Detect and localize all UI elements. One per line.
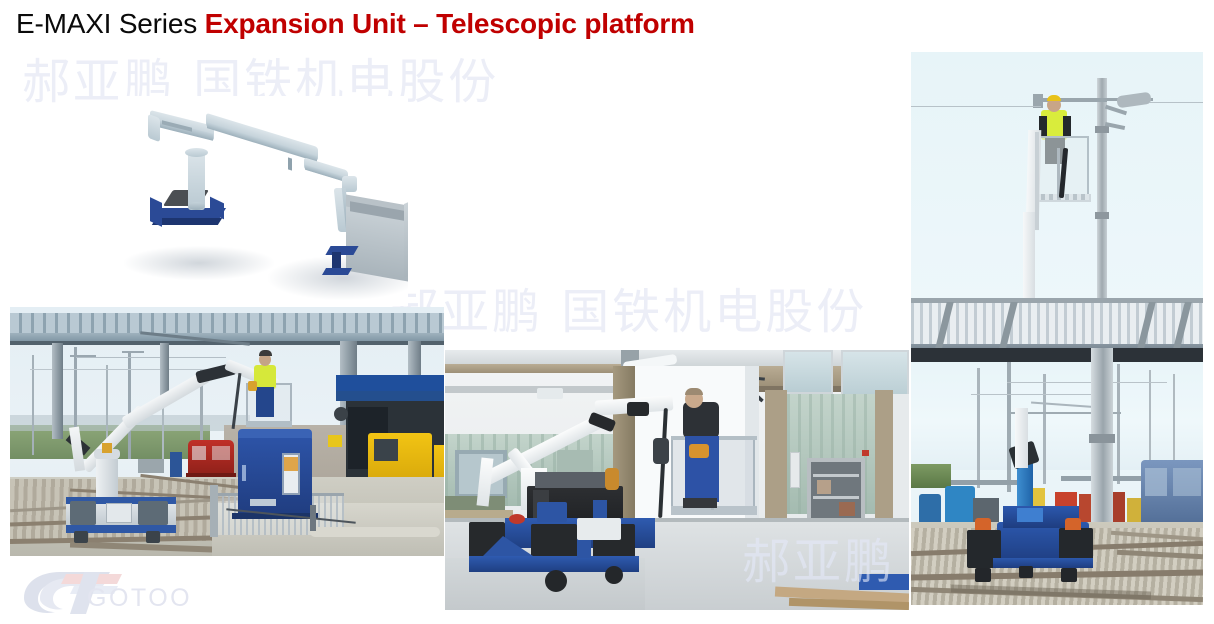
gotoo-logo-mark [14,568,210,620]
title-plain-text: E-MAXI Series [16,8,205,39]
cad-render-telescopic-platform [118,96,408,306]
page-title: E-MAXI Series Expansion Unit – Telescopi… [16,8,695,40]
title-accent-text: Expansion Unit – Telescopic platform [205,8,695,39]
slide-canvas: E-MAXI Series Expansion Unit – Telescopi… [0,0,1214,624]
photo-workshop-indoor [445,350,909,610]
photo-rail-depot-outdoor [10,307,444,556]
gotoo-logo-text: GOTOO [87,584,192,613]
watermark-middle: 郝亚鹏 国铁机电股份 [390,272,867,342]
photo-catenary-mast [911,52,1203,605]
gotoo-logo: GOTOO [14,568,210,620]
